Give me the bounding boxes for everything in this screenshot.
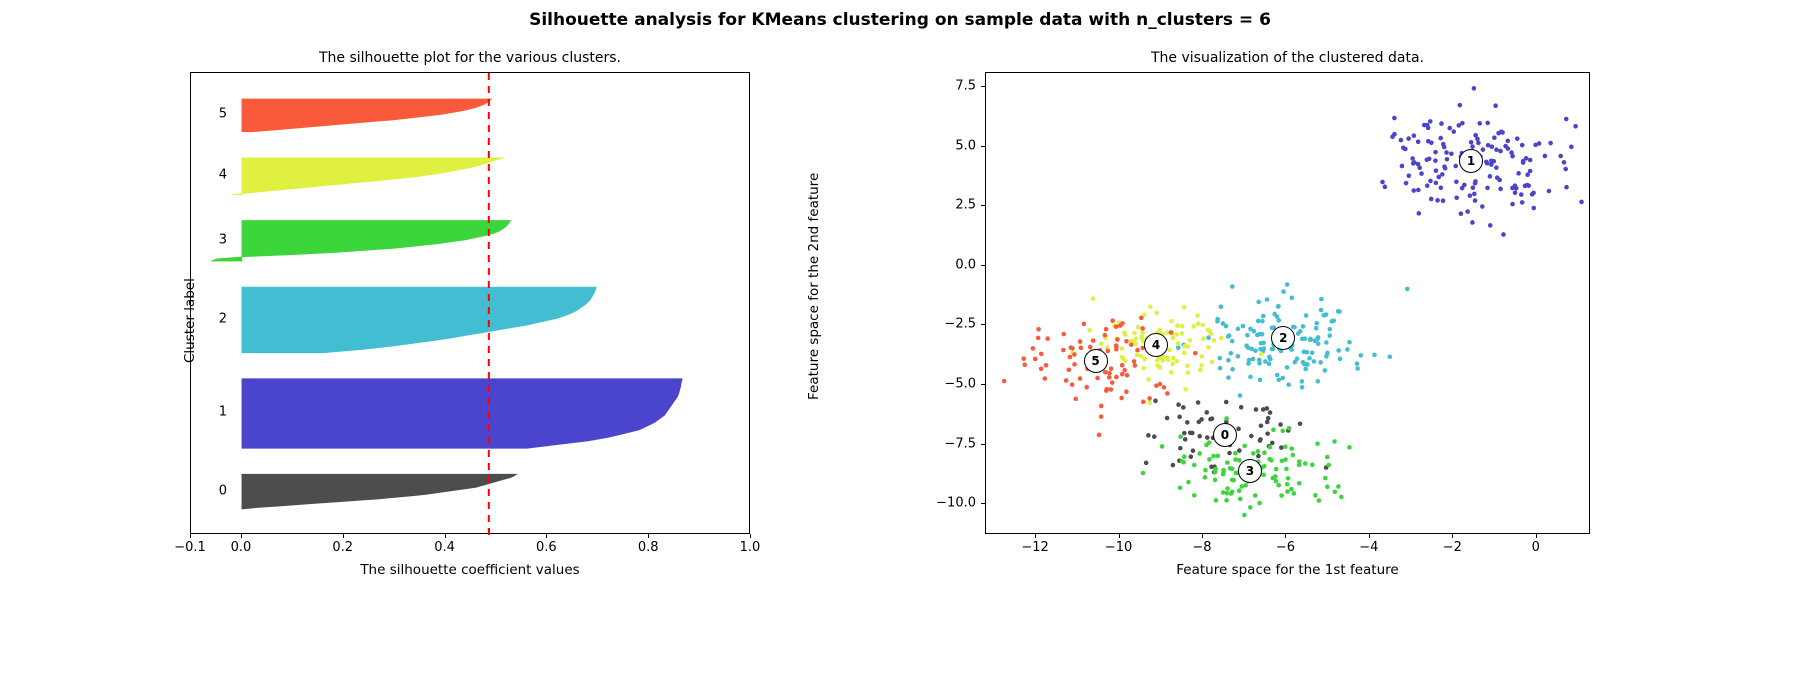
cluster-label-3: 3	[219, 232, 227, 247]
x-tick-label: −0.1	[174, 540, 206, 555]
x-tick-mark	[648, 534, 649, 538]
silhouette-cluster-2	[242, 287, 596, 353]
scatter-axes[interactable]	[985, 72, 1590, 534]
x-tick-label: 0.4	[434, 540, 455, 555]
y-tick-label: −5.0	[930, 376, 976, 391]
x-tick-mark	[750, 534, 751, 538]
x-tick-mark	[1369, 534, 1370, 538]
centroid-marker-3[interactable]: 3	[1238, 459, 1262, 483]
y-tick-mark	[981, 384, 985, 385]
cluster-label-1: 1	[219, 405, 227, 420]
average-line-tick	[488, 528, 490, 535]
x-tick-label: 0	[1532, 540, 1540, 555]
scatter-panel-title: The visualization of the clustered data.	[985, 50, 1590, 66]
y-tick-label: −2.5	[930, 317, 976, 332]
x-tick-mark	[1202, 534, 1203, 538]
scatter-ylabel: Feature space for the 2nd feature	[806, 173, 822, 400]
silhouette-cluster-1	[242, 379, 682, 449]
x-tick-label: −6	[1276, 540, 1295, 555]
x-tick-label: 0.2	[332, 540, 353, 555]
silhouette-xlabel: The silhouette coefficient values	[190, 562, 750, 578]
y-tick-label: 5.0	[930, 138, 976, 153]
x-tick-mark	[1452, 534, 1453, 538]
cluster-label-4: 4	[219, 168, 227, 183]
centroid-marker-4[interactable]: 4	[1144, 333, 1168, 357]
x-tick-mark	[190, 534, 191, 538]
centroid-marker-1[interactable]: 1	[1459, 149, 1483, 173]
silhouette-axes[interactable]	[190, 72, 750, 534]
y-tick-mark	[981, 324, 985, 325]
y-tick-mark	[981, 86, 985, 87]
x-tick-mark	[1035, 534, 1036, 538]
x-tick-mark	[241, 534, 242, 538]
x-tick-mark	[546, 534, 547, 538]
silhouette-cluster-0	[242, 474, 517, 509]
x-tick-mark	[1285, 534, 1286, 538]
y-tick-label: −10.0	[930, 496, 976, 511]
x-tick-label: −2	[1443, 540, 1462, 555]
y-tick-label: 0.0	[930, 257, 976, 272]
cluster-label-2: 2	[219, 311, 227, 326]
x-tick-mark	[1536, 534, 1537, 538]
silhouette-panel-title: The silhouette plot for the various clus…	[190, 50, 750, 66]
x-tick-label: −4	[1359, 540, 1378, 555]
y-tick-label: 2.5	[930, 198, 976, 213]
x-tick-label: −10	[1105, 540, 1132, 555]
cluster-label-5: 5	[219, 107, 227, 122]
y-tick-mark	[981, 503, 985, 504]
centroid-marker-5[interactable]: 5	[1084, 349, 1108, 373]
silhouette-cluster-3	[211, 221, 510, 262]
y-tick-label: −7.5	[930, 436, 976, 451]
x-tick-mark	[343, 534, 344, 538]
centroid-marker-0[interactable]: 0	[1213, 423, 1237, 447]
silhouette-cluster-5	[242, 99, 491, 132]
y-tick-mark	[981, 205, 985, 206]
x-tick-label: 0.8	[638, 540, 659, 555]
x-tick-label: 0.6	[536, 540, 557, 555]
x-tick-mark	[1119, 534, 1120, 538]
cluster-label-0: 0	[219, 483, 227, 498]
silhouette-cluster-4	[232, 158, 504, 195]
x-tick-label: 0.0	[231, 540, 252, 555]
figure-suptitle: Silhouette analysis for KMeans clusterin…	[0, 10, 1800, 30]
x-tick-label: −12	[1021, 540, 1048, 555]
silhouette-ylabel: Cluster label	[182, 278, 198, 363]
x-tick-label: 1.0	[740, 540, 761, 555]
x-tick-label: −8	[1192, 540, 1211, 555]
y-tick-mark	[981, 265, 985, 266]
y-tick-label: 7.5	[930, 79, 976, 94]
figure-canvas: Silhouette analysis for KMeans clusterin…	[0, 0, 1800, 700]
y-tick-mark	[981, 146, 985, 147]
centroid-marker-2[interactable]: 2	[1271, 326, 1295, 350]
y-tick-mark	[981, 444, 985, 445]
scatter-xlabel: Feature space for the 1st feature	[985, 562, 1590, 578]
x-tick-mark	[445, 534, 446, 538]
